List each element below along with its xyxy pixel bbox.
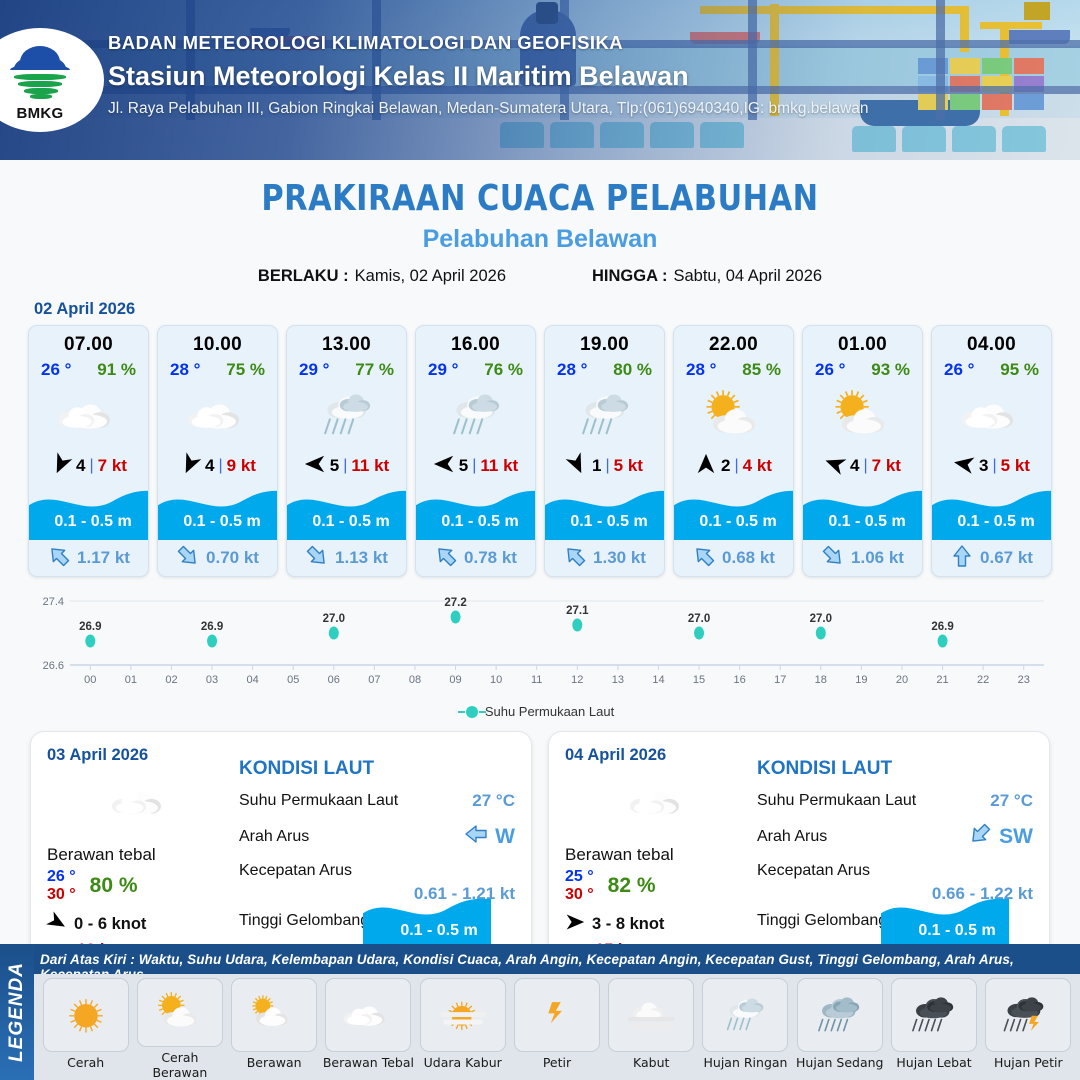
svg-text:27.2: 27.2 — [444, 597, 466, 609]
forecast-card: 22.00 28 ° 85 % 2 | 4 kt 0.1 - 0.5 m 0.6… — [673, 325, 794, 577]
svg-text:05: 05 — [287, 674, 299, 686]
current-direction-value: SW — [999, 825, 1033, 849]
weather-icon-hujan-ringan — [287, 382, 406, 448]
valid-until-label: HINGGA : — [592, 267, 667, 285]
wave-height-band: 0.1 - 0.5 m — [158, 484, 277, 540]
sst-label: Suhu Permukaan Laut — [239, 792, 398, 810]
svg-text:00: 00 — [84, 674, 96, 686]
svg-text:19: 19 — [855, 674, 867, 686]
legend-item: Berawan Tebal — [323, 978, 414, 1080]
forecast-card: 07.00 26 ° 91 % 4 | 7 kt 0.1 - 0.5 m 1.1… — [28, 325, 149, 577]
panel-date: 04 April 2026 — [565, 746, 753, 765]
card-humidity: 77 % — [355, 360, 394, 380]
daily-forecast-panel: 03 April 2026 Berawan tebal 26 ° 30 ° 80… — [30, 731, 532, 971]
weather-icon-udara-kabur — [420, 978, 506, 1052]
wind-separator: | — [735, 457, 739, 475]
wave-height-value: 0.1 - 0.5 m — [158, 513, 278, 531]
wave-height-band: 0.1 - 0.5 m — [932, 484, 1051, 540]
svg-text:04: 04 — [247, 674, 259, 686]
panel-condition: Berawan tebal — [565, 845, 753, 865]
svg-text:21: 21 — [936, 674, 948, 686]
svg-text:15: 15 — [693, 674, 705, 686]
forecast-card: 19.00 28 ° 80 % 1 | 5 kt 0.1 - 0.5 m 1.3… — [544, 325, 665, 577]
wind-direction-arrow-icon — [47, 912, 67, 937]
svg-text:27.4: 27.4 — [43, 596, 64, 608]
wind-separator: | — [472, 457, 476, 475]
weather-icon-hujan-ringan — [702, 978, 788, 1052]
wave-height-band: 0.1 - 0.5 m — [287, 484, 406, 540]
legend-item: Hujan Sedang — [794, 978, 885, 1080]
wind-speed: 1 — [592, 456, 601, 476]
wind-direction-arrow-icon — [433, 453, 455, 480]
legend-side-text: LEGENDA — [6, 962, 28, 1062]
svg-text:26.6: 26.6 — [43, 660, 64, 672]
legend-item-label: Hujan Lebat — [896, 1055, 971, 1070]
current-speed: 0.68 kt — [722, 548, 775, 568]
current-direction-arrow-icon — [464, 822, 488, 851]
current-direction-arrow-icon — [821, 544, 845, 573]
current-direction-arrow-icon — [176, 544, 200, 573]
sea-condition-title: KONDISI LAUT — [239, 758, 515, 780]
current-direction-arrow-icon — [434, 544, 458, 573]
weather-icon-berawan-tebal — [29, 382, 148, 448]
current-speed: 0.70 kt — [206, 548, 259, 568]
current-direction-arrow-icon — [968, 822, 992, 851]
card-temperature: 28 ° — [557, 360, 587, 380]
gust-speed: 5 kt — [1001, 456, 1030, 476]
weather-icon-cerah-berawan — [674, 382, 793, 448]
wind-direction-arrow-icon — [179, 453, 201, 480]
current-direction-arrow-icon — [950, 544, 974, 573]
wind-direction-arrow-icon — [695, 453, 717, 480]
legend-item-label: Berawan Tebal — [323, 1055, 414, 1070]
forecast-card-list: 07.00 26 ° 91 % 4 | 7 kt 0.1 - 0.5 m 1.1… — [0, 325, 1080, 577]
wind-separator: | — [219, 457, 223, 475]
svg-text:14: 14 — [652, 674, 664, 686]
card-time: 22.00 — [674, 334, 793, 356]
wind-speed: 4 — [76, 456, 85, 476]
legend-item: Cerah — [40, 978, 131, 1080]
weather-icon-kabut — [608, 978, 694, 1052]
gust-speed: 11 kt — [480, 456, 518, 476]
chart-legend: Suhu Permukaan Laut — [0, 704, 1080, 719]
current-direction-arrow-icon — [305, 544, 329, 573]
legend-item: Petir — [511, 978, 602, 1080]
card-time: 04.00 — [932, 334, 1051, 356]
chart-legend-label: Suhu Permukaan Laut — [485, 704, 614, 719]
svg-text:27.0: 27.0 — [810, 613, 832, 625]
svg-text:02: 02 — [165, 674, 177, 686]
wave-height-band: 0.1 - 0.5 m — [416, 484, 535, 540]
chart-legend-marker-icon — [466, 706, 478, 718]
svg-text:10: 10 — [490, 674, 502, 686]
current-direction-arrow-icon — [47, 544, 71, 573]
wind-separator: | — [343, 457, 347, 475]
svg-text:12: 12 — [571, 674, 583, 686]
svg-text:27.0: 27.0 — [323, 613, 345, 625]
svg-text:26.9: 26.9 — [931, 621, 953, 633]
wind-separator: | — [993, 457, 997, 475]
valid-from: BERLAKU :Kamis, 02 April 2026 — [258, 267, 506, 286]
panel-condition: Berawan tebal — [47, 845, 235, 865]
weather-icon-hujan-petir — [985, 978, 1071, 1052]
valid-from-value: Kamis, 02 April 2026 — [355, 267, 506, 285]
weather-icon-hujan-ringan — [416, 382, 535, 448]
current-direction-label: Arah Arus — [757, 828, 827, 846]
panel-humidity: 82 % — [608, 874, 656, 898]
page-subtitle: Pelabuhan Belawan — [0, 225, 1080, 254]
current-direction-arrow-icon — [563, 544, 587, 573]
panel-temp-min: 26 ° — [47, 868, 76, 886]
legend-item: Udara Kabur — [417, 978, 508, 1080]
valid-until: HINGGA :Sabtu, 04 April 2026 — [592, 267, 822, 286]
card-humidity: 80 % — [613, 360, 652, 380]
wave-height-value: 0.1 - 0.5 m — [287, 513, 407, 531]
current-direction-value: W — [495, 825, 515, 849]
current-speed: 0.67 kt — [980, 548, 1033, 568]
legend-item-label: Hujan Petir — [994, 1055, 1063, 1070]
agency-name: BADAN METEOROLOGI KLIMATOLOGI DAN GEOFIS… — [108, 30, 1068, 56]
wind-speed: 4 — [850, 456, 859, 476]
gust-speed: 4 kt — [743, 456, 772, 476]
legend-item: Hujan Ringan — [700, 978, 791, 1080]
svg-text:07: 07 — [368, 674, 380, 686]
wave-height-band: 0.1 - 0.5 m — [29, 484, 148, 540]
wave-height-band — [881, 892, 1033, 950]
wave-height-value: 0.1 - 0.5 m — [29, 513, 149, 531]
svg-text:11: 11 — [531, 674, 542, 686]
gust-speed: 5 kt — [614, 456, 643, 476]
wind-direction-arrow-icon — [50, 453, 72, 480]
svg-text:26.9: 26.9 — [201, 621, 223, 633]
svg-text:08: 08 — [409, 674, 421, 686]
gust-speed: 9 kt — [227, 456, 256, 476]
legend-item-label: Cerah — [67, 1055, 104, 1070]
card-time: 13.00 — [287, 334, 406, 356]
card-humidity: 95 % — [1000, 360, 1039, 380]
sst-chart-svg: 27.426.600010203040506070809101112131415… — [22, 591, 1058, 691]
wind-direction-arrow-icon — [566, 453, 588, 480]
legend-side-title: LEGENDA — [0, 944, 34, 1080]
weather-icon-berawan-tebal — [158, 382, 277, 448]
wave-height-value: 0.1 - 0.5 m — [416, 513, 536, 531]
current-speed: 0.78 kt — [464, 548, 517, 568]
legend-item-label: Udara Kabur — [424, 1055, 502, 1070]
page-title: PRAKIRAAN CUACA PELABUHAN — [32, 178, 1047, 219]
current-speed: 1.06 kt — [851, 548, 904, 568]
weather-icon-berawan-tebal — [47, 771, 235, 833]
svg-text:13: 13 — [612, 674, 624, 686]
card-temperature: 28 ° — [686, 360, 716, 380]
valid-until-value: Sabtu, 04 April 2026 — [673, 267, 822, 285]
card-temperature: 26 ° — [944, 360, 974, 380]
legend-icon-list: Cerah Cerah Berawan Berawan Berawan Teba… — [34, 974, 1080, 1080]
forecast-card: 10.00 28 ° 75 % 4 | 9 kt 0.1 - 0.5 m 0.7… — [157, 325, 278, 577]
daily-panel-list: 03 April 2026 Berawan tebal 26 ° 30 ° 80… — [0, 731, 1080, 971]
wind-speed: 3 — [979, 456, 988, 476]
svg-text:16: 16 — [734, 674, 746, 686]
card-humidity: 93 % — [871, 360, 910, 380]
wave-height-value: 0.1 - 0.5 m — [545, 513, 665, 531]
svg-text:23: 23 — [1018, 674, 1030, 686]
legend-item-label: Berawan — [247, 1055, 302, 1070]
panel-temp-min: 25 ° — [565, 868, 594, 886]
gust-speed: 7 kt — [872, 456, 901, 476]
legend-item: Berawan — [229, 978, 320, 1080]
wave-height-band: 0.1 - 0.5 m — [674, 484, 793, 540]
wave-height-value: 0.1 - 0.5 m — [674, 513, 794, 531]
card-time: 16.00 — [416, 334, 535, 356]
svg-text:09: 09 — [449, 674, 461, 686]
forecast-card: 13.00 29 ° 77 % 5 | 11 kt 0.1 - 0.5 m 1.… — [286, 325, 407, 577]
validity-range: BERLAKU :Kamis, 02 April 2026 HINGGA :Sa… — [0, 267, 1080, 286]
valid-from-label: BERLAKU : — [258, 267, 349, 285]
daily-forecast-panel: 04 April 2026 Berawan tebal 25 ° 30 ° 82… — [548, 731, 1050, 971]
wave-height-band: 0.1 - 0.5 m — [545, 484, 664, 540]
wind-direction-arrow-icon — [824, 453, 846, 480]
wind-separator: | — [864, 457, 868, 475]
wind-speed: 2 — [721, 456, 730, 476]
bmkg-logo-mark — [8, 40, 72, 100]
current-direction-label: Arah Arus — [239, 828, 309, 846]
svg-text:18: 18 — [815, 674, 827, 686]
card-humidity: 91 % — [97, 360, 136, 380]
sst-label: Suhu Permukaan Laut — [757, 792, 916, 810]
panel-wind-range: 0 - 6 knot — [74, 915, 146, 934]
svg-text:01: 01 — [125, 674, 137, 686]
svg-text:03: 03 — [206, 674, 218, 686]
current-speed-label: Kecepatan Arus — [757, 862, 1033, 880]
card-humidity: 75 % — [226, 360, 265, 380]
panel-wave-value: 0.1 - 0.5 m — [363, 922, 515, 940]
card-temperature: 29 ° — [299, 360, 329, 380]
page-header: BMKG BADAN METEOROLOGI KLIMATOLOGI DAN G… — [0, 0, 1080, 160]
legend-item-label: Hujan Ringan — [704, 1055, 788, 1070]
wind-direction-arrow-icon — [304, 453, 326, 480]
sst-value: 27 °C — [472, 791, 515, 811]
legend-item-label: Kabut — [633, 1055, 669, 1070]
weather-icon-petir — [514, 978, 600, 1052]
forecast-card: 04.00 26 ° 95 % 3 | 5 kt 0.1 - 0.5 m 0.6… — [931, 325, 1052, 577]
panel-date: 03 April 2026 — [47, 746, 235, 765]
wind-speed: 5 — [459, 456, 468, 476]
gust-speed: 7 kt — [98, 456, 127, 476]
svg-text:17: 17 — [774, 674, 786, 686]
wind-direction-arrow-icon — [953, 453, 975, 480]
weather-icon-cerah-berawan — [803, 382, 922, 448]
current-direction-arrow-icon — [692, 544, 716, 573]
wind-speed: 5 — [330, 456, 339, 476]
legend-item-label: Hujan Sedang — [796, 1055, 883, 1070]
card-humidity: 76 % — [484, 360, 523, 380]
svg-text:26.9: 26.9 — [79, 621, 101, 633]
wave-height-band: 0.1 - 0.5 m — [803, 484, 922, 540]
legend-item: Hujan Petir — [983, 978, 1074, 1080]
weather-icon-berawan-tebal — [932, 382, 1051, 448]
legend-item-label: Cerah Berawan — [134, 1050, 225, 1080]
svg-text:27.0: 27.0 — [688, 613, 710, 625]
svg-text:27.1: 27.1 — [566, 605, 589, 617]
forecast-card: 01.00 26 ° 93 % 4 | 7 kt 0.1 - 0.5 m 1.0… — [802, 325, 923, 577]
weather-icon-berawan-tebal — [325, 978, 411, 1052]
wave-height-value: 0.1 - 0.5 m — [932, 513, 1052, 531]
wave-height-band — [363, 892, 515, 950]
panel-humidity: 80 % — [90, 874, 138, 898]
station-name: Stasiun Meteorologi Kelas II Maritim Bel… — [108, 57, 1068, 95]
wave-height-value: 0.1 - 0.5 m — [803, 513, 923, 531]
legend-item: Cerah Berawan — [134, 978, 225, 1080]
forecast-day-label: 02 April 2026 — [34, 300, 1080, 319]
weather-icon-hujan-ringan — [545, 382, 664, 448]
current-speed-label: Kecepatan Arus — [239, 862, 515, 880]
wind-speed: 4 — [205, 456, 214, 476]
sea-condition-title: KONDISI LAUT — [757, 758, 1033, 780]
card-temperature: 26 ° — [815, 360, 845, 380]
weather-icon-berawan-tebal — [565, 771, 753, 833]
wind-direction-arrow-icon — [565, 912, 585, 937]
weather-icon-cerah-berawan — [137, 978, 223, 1047]
panel-temp-max: 30 ° — [565, 886, 594, 904]
current-speed: 1.13 kt — [335, 548, 388, 568]
weather-icon-hujan-sedang — [797, 978, 883, 1052]
card-time: 19.00 — [545, 334, 664, 356]
svg-text:20: 20 — [896, 674, 908, 686]
panel-wind-range: 3 - 8 knot — [592, 915, 664, 934]
station-address: Jl. Raya Pelabuhan III, Gabion Ringkai B… — [108, 97, 1068, 121]
card-temperature: 26 ° — [41, 360, 71, 380]
current-speed: 1.17 kt — [77, 548, 130, 568]
card-humidity: 85 % — [742, 360, 781, 380]
gust-speed: 11 kt — [351, 456, 389, 476]
svg-text:22: 22 — [977, 674, 989, 686]
card-temperature: 29 ° — [428, 360, 458, 380]
sst-value: 27 °C — [990, 791, 1033, 811]
card-time: 07.00 — [29, 334, 148, 356]
sst-chart: 27.426.600010203040506070809101112131415… — [22, 591, 1058, 699]
wind-separator: | — [90, 457, 94, 475]
panel-wave-value: 0.1 - 0.5 m — [881, 922, 1033, 940]
legend-item: Kabut — [606, 978, 697, 1080]
card-time: 01.00 — [803, 334, 922, 356]
wind-separator: | — [606, 457, 610, 475]
current-speed: 1.30 kt — [593, 548, 646, 568]
weather-icon-cerah — [43, 978, 129, 1052]
legend-bar: LEGENDA Dari Atas Kiri : Waktu, Suhu Uda… — [0, 944, 1080, 1080]
svg-text:06: 06 — [328, 674, 340, 686]
weather-icon-berawan — [231, 978, 317, 1052]
weather-icon-hujan-lebat — [891, 978, 977, 1052]
legend-item: Hujan Lebat — [888, 978, 979, 1080]
card-temperature: 28 ° — [170, 360, 200, 380]
forecast-card: 16.00 29 ° 76 % 5 | 11 kt 0.1 - 0.5 m 0.… — [415, 325, 536, 577]
bmkg-logo-text: BMKG — [2, 105, 78, 122]
panel-temp-max: 30 ° — [47, 886, 76, 904]
card-time: 10.00 — [158, 334, 277, 356]
legend-item-label: Petir — [543, 1055, 571, 1070]
